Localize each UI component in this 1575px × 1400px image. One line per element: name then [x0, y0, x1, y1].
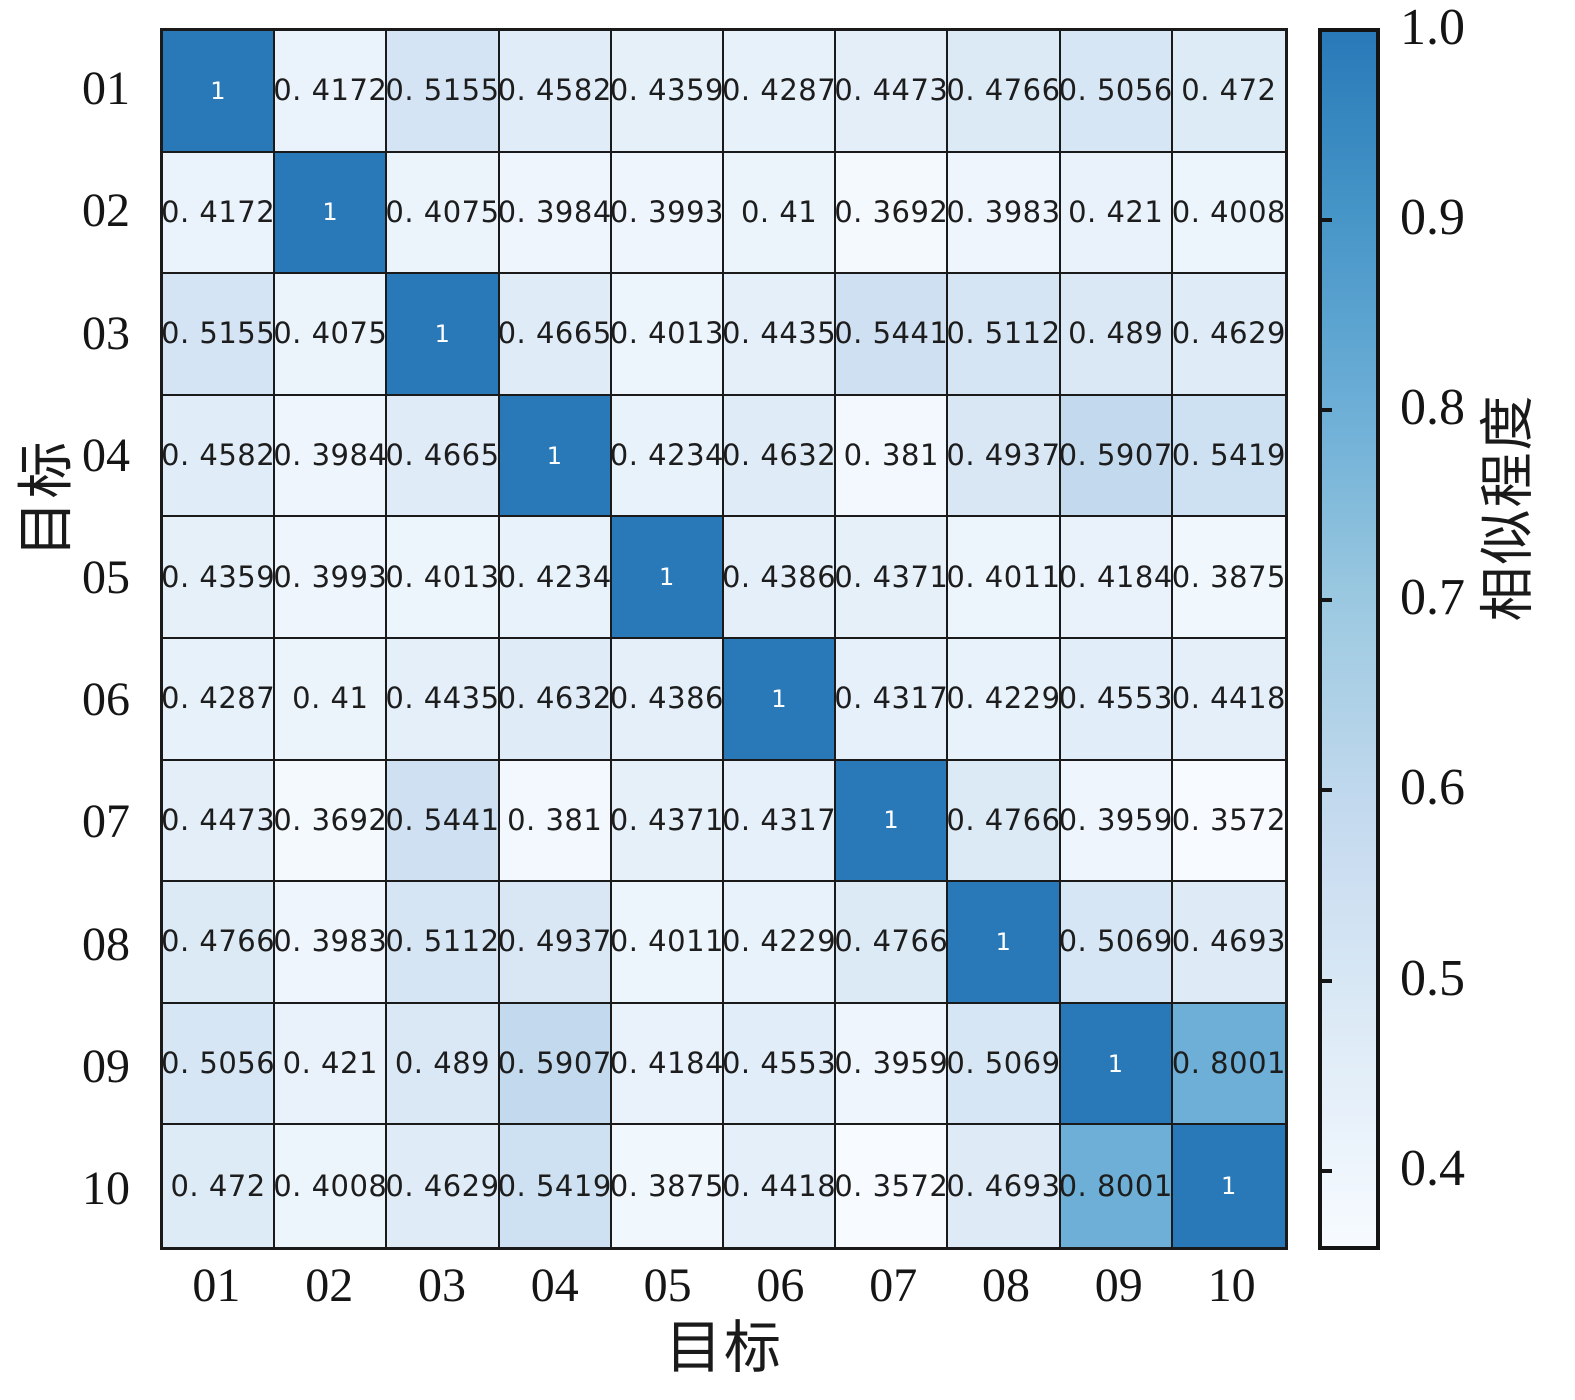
heatmap-cell-08-05: 0. 4011	[612, 882, 724, 1004]
colorbar-tick-mark	[1318, 408, 1332, 412]
heatmap-cell-07-01: 0. 4473	[163, 761, 275, 883]
heatmap-cell-value: 0. 489	[1068, 319, 1163, 348]
y-tick-04: 04	[62, 432, 150, 480]
heatmap-cell-09-06: 0. 4553	[724, 1004, 836, 1126]
heatmap-cell-05-04: 0. 4234	[500, 517, 612, 639]
heatmap-cell-value: 1	[771, 687, 787, 711]
heatmap-cell-08-07: 0. 4766	[836, 882, 948, 1004]
heatmap-cell-02-10: 0. 4008	[1173, 153, 1285, 275]
heatmap-cell-value: 0. 5056	[163, 1049, 275, 1078]
x-tick-05: 05	[612, 1262, 724, 1310]
heatmap-cell-value: 0. 3993	[275, 563, 387, 592]
x-tick-03: 03	[386, 1262, 498, 1310]
y-tick-09: 09	[62, 1043, 150, 1091]
heatmap-cell-09-04: 0. 5907	[500, 1004, 612, 1126]
colorbar	[1318, 28, 1380, 1250]
heatmap-cell-value: 0. 4582	[500, 76, 612, 105]
colorbar-tick-label: 0.8	[1400, 382, 1465, 434]
heatmap-cell-06-05: 0. 4386	[612, 639, 724, 761]
heatmap-cell-value: 0. 4172	[275, 76, 387, 105]
heatmap-cell-value: 0. 4629	[1173, 319, 1285, 348]
heatmap-cell-10-08: 0. 4693	[948, 1125, 1060, 1247]
heatmap-cell-08-08: 1	[948, 882, 1060, 1004]
y-tick-07: 07	[62, 798, 150, 846]
heatmap-cell-value: 1	[996, 930, 1012, 954]
heatmap-cell-08-09: 0. 5069	[1061, 882, 1173, 1004]
heatmap-cell-05-02: 0. 3993	[275, 517, 387, 639]
colorbar-tick-label: 1.0	[1400, 2, 1465, 54]
heatmap-cell-04-07: 0. 381	[836, 396, 948, 518]
heatmap-cell-value: 1	[883, 808, 899, 832]
heatmap-cell-value: 0. 3984	[500, 198, 612, 227]
heatmap-cell-10-07: 0. 3572	[836, 1125, 948, 1247]
heatmap-cell-09-09: 1	[1061, 1004, 1173, 1126]
x-tick-04: 04	[499, 1262, 611, 1310]
colorbar-tick-label: 0.7	[1400, 572, 1465, 624]
heatmap-cell-value: 0. 8001	[1173, 1049, 1285, 1078]
heatmap-cell-01-07: 0. 4473	[836, 31, 948, 153]
heatmap-cell-03-09: 0. 489	[1061, 274, 1173, 396]
y-tick-10: 10	[62, 1165, 150, 1213]
heatmap-cell-value: 0. 472	[1181, 76, 1276, 105]
heatmap-cell-02-01: 0. 4172	[163, 153, 275, 275]
heatmap-cell-value: 0. 4693	[948, 1172, 1060, 1201]
heatmap-cell-value: 0. 5907	[500, 1049, 612, 1078]
heatmap-cell-value: 1	[322, 200, 338, 224]
heatmap-cell-09-03: 0. 489	[387, 1004, 499, 1126]
heatmap-cell-01-09: 0. 5056	[1061, 31, 1173, 153]
heatmap-cell-value: 0. 4766	[163, 927, 275, 956]
heatmap-cell-value: 0. 4011	[948, 563, 1060, 592]
heatmap-cell-03-08: 0. 5112	[948, 274, 1060, 396]
heatmap-cell-value: 1	[1108, 1052, 1124, 1076]
colorbar-tick-label: 0.6	[1400, 762, 1465, 814]
x-tick-09: 09	[1063, 1262, 1175, 1310]
heatmap-cell-04-09: 0. 5907	[1061, 396, 1173, 518]
colorbar-tick-mark	[1318, 598, 1332, 602]
heatmap-cell-value: 1	[210, 79, 226, 103]
heatmap-cell-value: 0. 3572	[1173, 806, 1285, 835]
heatmap-cell-value: 0. 5441	[387, 806, 499, 835]
heatmap-cell-value: 0. 4371	[836, 563, 948, 592]
heatmap-cell-05-07: 0. 4371	[836, 517, 948, 639]
heatmap-cell-value: 0. 421	[1068, 198, 1163, 227]
heatmap-cell-09-01: 0. 5056	[163, 1004, 275, 1126]
heatmap-cell-02-08: 0. 3983	[948, 153, 1060, 275]
heatmap-cell-value: 0. 4473	[163, 806, 275, 835]
heatmap-cell-value: 0. 4317	[724, 806, 836, 835]
x-tick-01: 01	[160, 1262, 272, 1310]
heatmap-cell-value: 0. 5069	[948, 1049, 1060, 1078]
x-tick-10: 10	[1176, 1262, 1288, 1310]
y-tick-08: 08	[62, 921, 150, 969]
heatmap-cell-value: 0. 4386	[612, 684, 724, 713]
heatmap-cell-value: 0. 3875	[1173, 563, 1285, 592]
heatmap-cell-05-06: 0. 4386	[724, 517, 836, 639]
heatmap-cell-value: 0. 4287	[163, 684, 275, 713]
colorbar-title: 相似程度	[1481, 338, 1536, 678]
heatmap-cell-02-04: 0. 3984	[500, 153, 612, 275]
heatmap-cell-value: 0. 4317	[836, 684, 948, 713]
heatmap-cell-06-10: 0. 4418	[1173, 639, 1285, 761]
heatmap-cell-value: 0. 4632	[724, 441, 836, 470]
heatmap-cell-value: 0. 4665	[387, 441, 499, 470]
heatmap-cell-value: 0. 4287	[724, 76, 836, 105]
heatmap-cell-06-02: 0. 41	[275, 639, 387, 761]
heatmap-cell-value: 1	[435, 322, 451, 346]
x-axis-title: 目标	[160, 1320, 1288, 1377]
heatmap-cell-03-03: 1	[387, 274, 499, 396]
heatmap-cell-value: 0. 4184	[612, 1049, 724, 1078]
heatmap-cell-value: 0. 41	[741, 198, 817, 227]
heatmap-cell-value: 1	[1221, 1174, 1237, 1198]
heatmap-cell-value: 0. 4008	[275, 1172, 387, 1201]
heatmap-cell-07-03: 0. 5441	[387, 761, 499, 883]
heatmap-cell-10-04: 0. 5419	[500, 1125, 612, 1247]
heatmap-cell-08-10: 0. 4693	[1173, 882, 1285, 1004]
heatmap-cell-02-09: 0. 421	[1061, 153, 1173, 275]
heatmap-cell-10-09: 0. 8001	[1061, 1125, 1173, 1247]
colorbar-tick-label: 0.5	[1400, 953, 1465, 1005]
heatmap-cell-05-08: 0. 4011	[948, 517, 1060, 639]
heatmap-cell-value: 0. 4937	[948, 441, 1060, 470]
heatmap-cell-value: 0. 5069	[1061, 927, 1173, 956]
heatmap-cell-07-02: 0. 3692	[275, 761, 387, 883]
heatmap-cell-value: 0. 4013	[612, 319, 724, 348]
heatmap-cell-07-07: 1	[836, 761, 948, 883]
heatmap-cell-value: 0. 4234	[612, 441, 724, 470]
heatmap-grid: 10. 41720. 51550. 45820. 43590. 42870. 4…	[160, 28, 1288, 1250]
heatmap-cell-value: 0. 4632	[500, 684, 612, 713]
y-tick-02: 02	[62, 187, 150, 235]
heatmap-cell-06-03: 0. 4435	[387, 639, 499, 761]
heatmap-cell-value: 0. 4075	[275, 319, 387, 348]
heatmap-cell-08-06: 0. 4229	[724, 882, 836, 1004]
heatmap-cell-05-09: 0. 4184	[1061, 517, 1173, 639]
y-tick-06: 06	[62, 676, 150, 724]
heatmap-cell-value: 0. 4418	[724, 1172, 836, 1201]
heatmap-cell-value: 0. 4075	[387, 198, 499, 227]
heatmap-cell-value: 0. 4234	[500, 563, 612, 592]
heatmap-cell-03-04: 0. 4665	[500, 274, 612, 396]
heatmap-cell-02-05: 0. 3993	[612, 153, 724, 275]
heatmap-cell-02-03: 0. 4075	[387, 153, 499, 275]
heatmap-cell-06-08: 0. 4229	[948, 639, 1060, 761]
heatmap-cell-04-10: 0. 5419	[1173, 396, 1285, 518]
heatmap-cell-value: 1	[659, 565, 675, 589]
heatmap-cell-value: 0. 5907	[1061, 441, 1173, 470]
heatmap-cell-04-04: 1	[500, 396, 612, 518]
heatmap-cell-09-02: 0. 421	[275, 1004, 387, 1126]
y-axis-title: 目标	[19, 329, 76, 669]
colorbar-gradient	[1318, 28, 1380, 1250]
heatmap-cell-03-06: 0. 4435	[724, 274, 836, 396]
heatmap-figure: 目标 01020304050607080910 10. 41720. 51550…	[0, 0, 1575, 1400]
heatmap-cell-01-03: 0. 5155	[387, 31, 499, 153]
heatmap-cell-04-03: 0. 4665	[387, 396, 499, 518]
heatmap-cell-value: 0. 8001	[1061, 1172, 1173, 1201]
heatmap-cell-value: 0. 4172	[163, 198, 275, 227]
heatmap-cell-03-10: 0. 4629	[1173, 274, 1285, 396]
heatmap-cell-09-05: 0. 4184	[612, 1004, 724, 1126]
heatmap-cell-value: 0. 4013	[387, 563, 499, 592]
heatmap-cell-10-05: 0. 3875	[612, 1125, 724, 1247]
heatmap-cell-10-03: 0. 4629	[387, 1125, 499, 1247]
heatmap-cell-07-04: 0. 381	[500, 761, 612, 883]
heatmap-cell-value: 0. 5155	[387, 76, 499, 105]
heatmap-cell-value: 0. 3692	[275, 806, 387, 835]
heatmap-cell-04-05: 0. 4234	[612, 396, 724, 518]
colorbar-tick-mark	[1318, 788, 1332, 792]
heatmap-cell-08-01: 0. 4766	[163, 882, 275, 1004]
heatmap-cell-value: 0. 5056	[1061, 76, 1173, 105]
heatmap-cell-value: 0. 4665	[500, 319, 612, 348]
heatmap-cell-value: 0. 4553	[1061, 684, 1173, 713]
colorbar-tick-label: 0.9	[1400, 192, 1465, 244]
heatmap-cell-02-06: 0. 41	[724, 153, 836, 275]
heatmap-cell-value: 0. 4473	[836, 76, 948, 105]
heatmap-cell-value: 0. 381	[507, 806, 602, 835]
heatmap-cell-01-08: 0. 4766	[948, 31, 1060, 153]
colorbar-tick-label: 0.4	[1400, 1143, 1465, 1195]
heatmap-cell-value: 0. 4359	[612, 76, 724, 105]
heatmap-cell-value: 0. 3959	[1061, 806, 1173, 835]
heatmap-cell-value: 0. 4386	[724, 563, 836, 592]
heatmap-cell-07-06: 0. 4317	[724, 761, 836, 883]
heatmap-cell-value: 0. 4937	[500, 927, 612, 956]
heatmap-cell-value: 0. 5112	[387, 927, 499, 956]
heatmap-cell-value: 0. 5419	[500, 1172, 612, 1201]
heatmap-cell-value: 0. 3572	[836, 1172, 948, 1201]
heatmap-cell-04-01: 0. 4582	[163, 396, 275, 518]
heatmap-cell-07-09: 0. 3959	[1061, 761, 1173, 883]
heatmap-cell-value: 0. 4553	[724, 1049, 836, 1078]
colorbar-tick-mark	[1318, 28, 1332, 32]
heatmap-cell-10-01: 0. 472	[163, 1125, 275, 1247]
heatmap-cell-value: 0. 4418	[1173, 684, 1285, 713]
heatmap-cell-06-07: 0. 4317	[836, 639, 948, 761]
heatmap-cell-value: 0. 5112	[948, 319, 1060, 348]
heatmap-cell-value: 0. 3984	[275, 441, 387, 470]
heatmap-cell-05-03: 0. 4013	[387, 517, 499, 639]
heatmap-cell-05-10: 0. 3875	[1173, 517, 1285, 639]
heatmap-cell-10-10: 1	[1173, 1125, 1285, 1247]
heatmap-cell-value: 0. 4184	[1061, 563, 1173, 592]
heatmap-cell-value: 0. 4229	[724, 927, 836, 956]
heatmap-cell-04-08: 0. 4937	[948, 396, 1060, 518]
heatmap-cell-04-06: 0. 4632	[724, 396, 836, 518]
heatmap-cell-07-10: 0. 3572	[1173, 761, 1285, 883]
heatmap-cell-value: 0. 3692	[836, 198, 948, 227]
y-tick-01: 01	[62, 65, 150, 113]
colorbar-tick-mark	[1318, 218, 1332, 222]
heatmap-cell-06-06: 1	[724, 639, 836, 761]
heatmap-cell-05-05: 1	[612, 517, 724, 639]
heatmap-cell-03-02: 0. 4075	[275, 274, 387, 396]
heatmap-cell-value: 0. 4766	[836, 927, 948, 956]
heatmap-cell-08-04: 0. 4937	[500, 882, 612, 1004]
heatmap-cell-01-06: 0. 4287	[724, 31, 836, 153]
heatmap-cell-03-01: 0. 5155	[163, 274, 275, 396]
heatmap-cell-08-02: 0. 3983	[275, 882, 387, 1004]
heatmap-cell-value: 0. 4371	[612, 806, 724, 835]
heatmap-cell-05-01: 0. 4359	[163, 517, 275, 639]
heatmap-cell-value: 0. 3983	[275, 927, 387, 956]
heatmap-cell-03-05: 0. 4013	[612, 274, 724, 396]
heatmap-cell-01-01: 1	[163, 31, 275, 153]
heatmap-cell-06-01: 0. 4287	[163, 639, 275, 761]
heatmap-cell-01-04: 0. 4582	[500, 31, 612, 153]
heatmap-cell-01-05: 0. 4359	[612, 31, 724, 153]
heatmap-cell-value: 0. 4011	[612, 927, 724, 956]
x-tick-02: 02	[273, 1262, 385, 1310]
x-tick-07: 07	[837, 1262, 949, 1310]
heatmap-cell-value: 0. 4435	[387, 684, 499, 713]
heatmap-cell-value: 0. 421	[283, 1049, 378, 1078]
heatmap-cell-value: 0. 4229	[948, 684, 1060, 713]
heatmap-cell-09-08: 0. 5069	[948, 1004, 1060, 1126]
heatmap-cell-value: 1	[547, 444, 563, 468]
heatmap-cell-03-07: 0. 5441	[836, 274, 948, 396]
heatmap-cell-07-08: 0. 4766	[948, 761, 1060, 883]
y-tick-03: 03	[62, 310, 150, 358]
heatmap-cell-value: 0. 489	[395, 1049, 490, 1078]
heatmap-cell-06-09: 0. 4553	[1061, 639, 1173, 761]
heatmap-cell-02-07: 0. 3692	[836, 153, 948, 275]
heatmap-cell-value: 0. 4629	[387, 1172, 499, 1201]
heatmap-cell-09-07: 0. 3959	[836, 1004, 948, 1126]
heatmap-cell-value: 0. 3983	[948, 198, 1060, 227]
heatmap-cell-value: 0. 5155	[163, 319, 275, 348]
heatmap-cell-10-06: 0. 4418	[724, 1125, 836, 1247]
heatmap-cell-value: 0. 41	[292, 684, 368, 713]
heatmap-cell-08-03: 0. 5112	[387, 882, 499, 1004]
heatmap-cell-value: 0. 4766	[948, 806, 1060, 835]
y-tick-05: 05	[62, 554, 150, 602]
heatmap-cell-value: 0. 4693	[1173, 927, 1285, 956]
colorbar-tick-mark	[1318, 1169, 1332, 1173]
heatmap-cell-01-02: 0. 4172	[275, 31, 387, 153]
x-tick-08: 08	[950, 1262, 1062, 1310]
heatmap-cell-06-04: 0. 4632	[500, 639, 612, 761]
heatmap-cell-09-10: 0. 8001	[1173, 1004, 1285, 1126]
heatmap-cell-value: 0. 5419	[1173, 441, 1285, 470]
colorbar-tick-mark	[1318, 979, 1332, 983]
heatmap-cell-02-02: 1	[275, 153, 387, 275]
x-tick-06: 06	[724, 1262, 836, 1310]
heatmap-cell-value: 0. 4008	[1173, 198, 1285, 227]
heatmap-cell-01-10: 0. 472	[1173, 31, 1285, 153]
heatmap-cell-value: 0. 5441	[836, 319, 948, 348]
heatmap-cell-07-05: 0. 4371	[612, 761, 724, 883]
heatmap-cell-value: 0. 3959	[836, 1049, 948, 1078]
heatmap-cell-10-02: 0. 4008	[275, 1125, 387, 1247]
heatmap-cell-value: 0. 3875	[612, 1172, 724, 1201]
heatmap-cell-value: 0. 3993	[612, 198, 724, 227]
heatmap-cell-value: 0. 381	[844, 441, 939, 470]
heatmap-cell-value: 0. 4435	[724, 319, 836, 348]
heatmap-cell-value: 0. 4582	[163, 441, 275, 470]
heatmap-cell-value: 0. 4766	[948, 76, 1060, 105]
heatmap-cell-04-02: 0. 3984	[275, 396, 387, 518]
heatmap-cell-value: 0. 4359	[163, 563, 275, 592]
heatmap-cell-value: 0. 472	[170, 1172, 265, 1201]
